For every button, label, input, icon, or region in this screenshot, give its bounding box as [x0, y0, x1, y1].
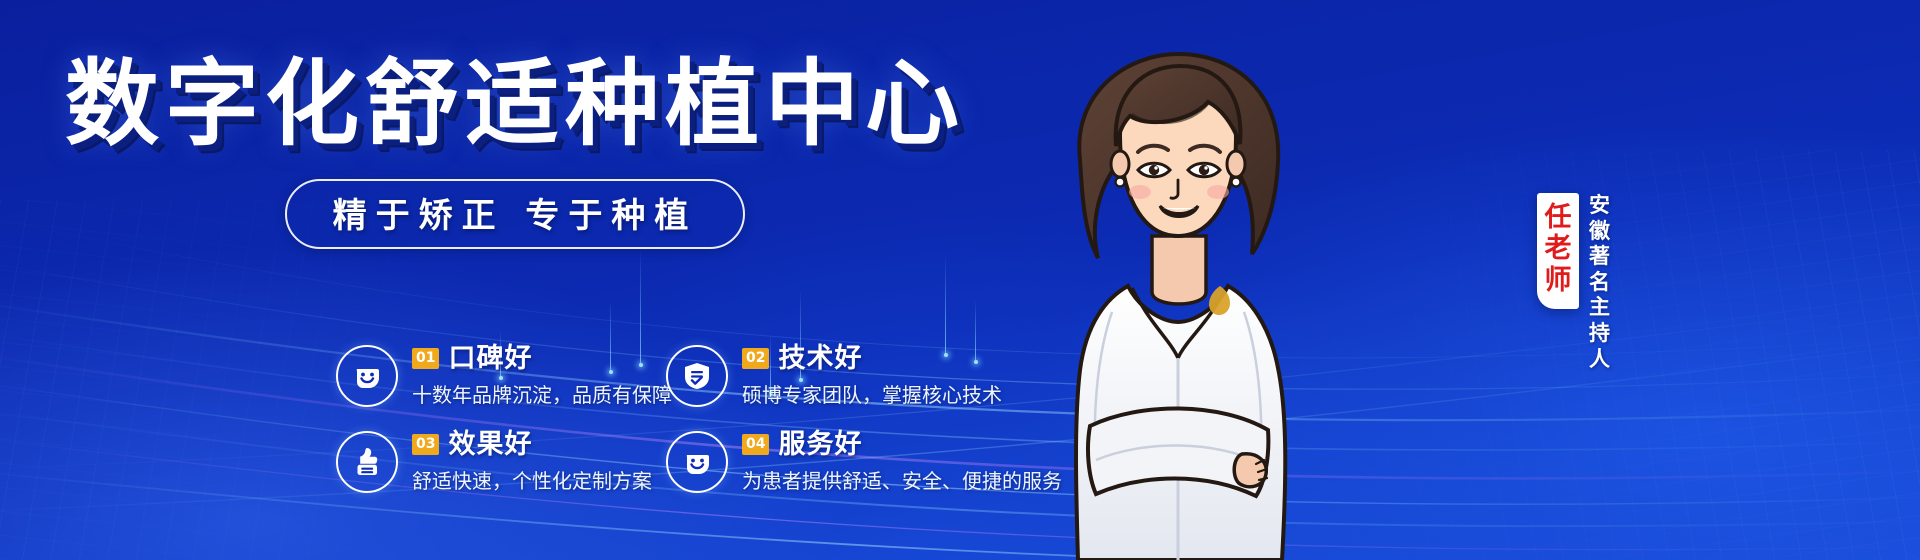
caption-char-0: 安: [1585, 193, 1615, 219]
feature-text-03: 03 效果好 舒适快速，个性化定制方案: [412, 431, 652, 494]
shield-check-icon: [666, 345, 728, 407]
feature-head-01: 01 口碑好: [412, 345, 672, 372]
feature-item-01: 01 口碑好 十数年品牌沉淀，品质有保障: [336, 333, 666, 419]
dental-clinic-banner: 数字化舒适种植中心 精于矫正 专于种植 01 口碑好 十数年品牌沉淀，品质有保障: [0, 0, 1920, 560]
feature-text-01: 01 口碑好 十数年品牌沉淀，品质有保障: [412, 345, 672, 408]
feature-head-02: 02 技术好: [742, 345, 1002, 372]
feature-head-03: 03 效果好: [412, 431, 652, 458]
caption-char-5: 持: [1585, 321, 1615, 347]
caption-char-1: 徽: [1585, 219, 1615, 245]
feature-title: 技术好: [778, 345, 862, 372]
feature-number-badge: 01: [412, 348, 439, 369]
feature-description: 十数年品牌沉淀，品质有保障: [412, 379, 672, 408]
feature-grid: 01 口碑好 十数年品牌沉淀，品质有保障 02 技术好: [336, 333, 996, 505]
caption-char-6: 人: [1585, 347, 1615, 373]
feature-item-04: 04 服务好 为患者提供舒适、安全、便捷的服务: [666, 419, 996, 505]
feature-head-04: 04 服务好: [742, 431, 1062, 458]
caption-char-3: 名: [1585, 270, 1615, 296]
feature-item-03: 03 效果好 舒适快速，个性化定制方案: [336, 419, 666, 505]
subtitle-pill: 精于矫正 专于种植: [285, 179, 746, 249]
headline-block: 数字化舒适种植中心 精于矫正 专于种植: [0, 52, 1030, 249]
smile-face-icon: [336, 345, 398, 407]
caption-char-2: 著: [1585, 244, 1615, 270]
presenter-name-badge: 任老师: [1537, 193, 1579, 309]
feature-item-02: 02 技术好 硕博专家团队，掌握核心技术: [666, 333, 996, 419]
feature-number-badge: 04: [742, 434, 769, 455]
thumbs-up-icon: [336, 431, 398, 493]
feature-text-04: 04 服务好 为患者提供舒适、安全、便捷的服务: [742, 431, 1062, 494]
feature-number-badge: 03: [412, 434, 439, 455]
feature-description: 硕博专家团队，掌握核心技术: [742, 379, 1002, 408]
presenter-caption: 安 徽 著 名 主 持 人: [1585, 193, 1615, 372]
feature-title: 口碑好: [448, 345, 532, 372]
page-title: 数字化舒适种植中心: [0, 52, 1030, 157]
caption-char-4: 主: [1585, 295, 1615, 321]
feature-title: 效果好: [448, 431, 532, 458]
smile-face-icon: [666, 431, 728, 493]
presenter-name: 任老师: [1537, 202, 1579, 296]
presenter-illustration: [1020, 40, 1350, 560]
feature-description: 为患者提供舒适、安全、便捷的服务: [742, 465, 1062, 494]
feature-description: 舒适快速，个性化定制方案: [412, 465, 652, 494]
feature-text-02: 02 技术好 硕博专家团队，掌握核心技术: [742, 345, 1002, 408]
feature-number-badge: 02: [742, 348, 769, 369]
feature-title: 服务好: [778, 431, 862, 458]
